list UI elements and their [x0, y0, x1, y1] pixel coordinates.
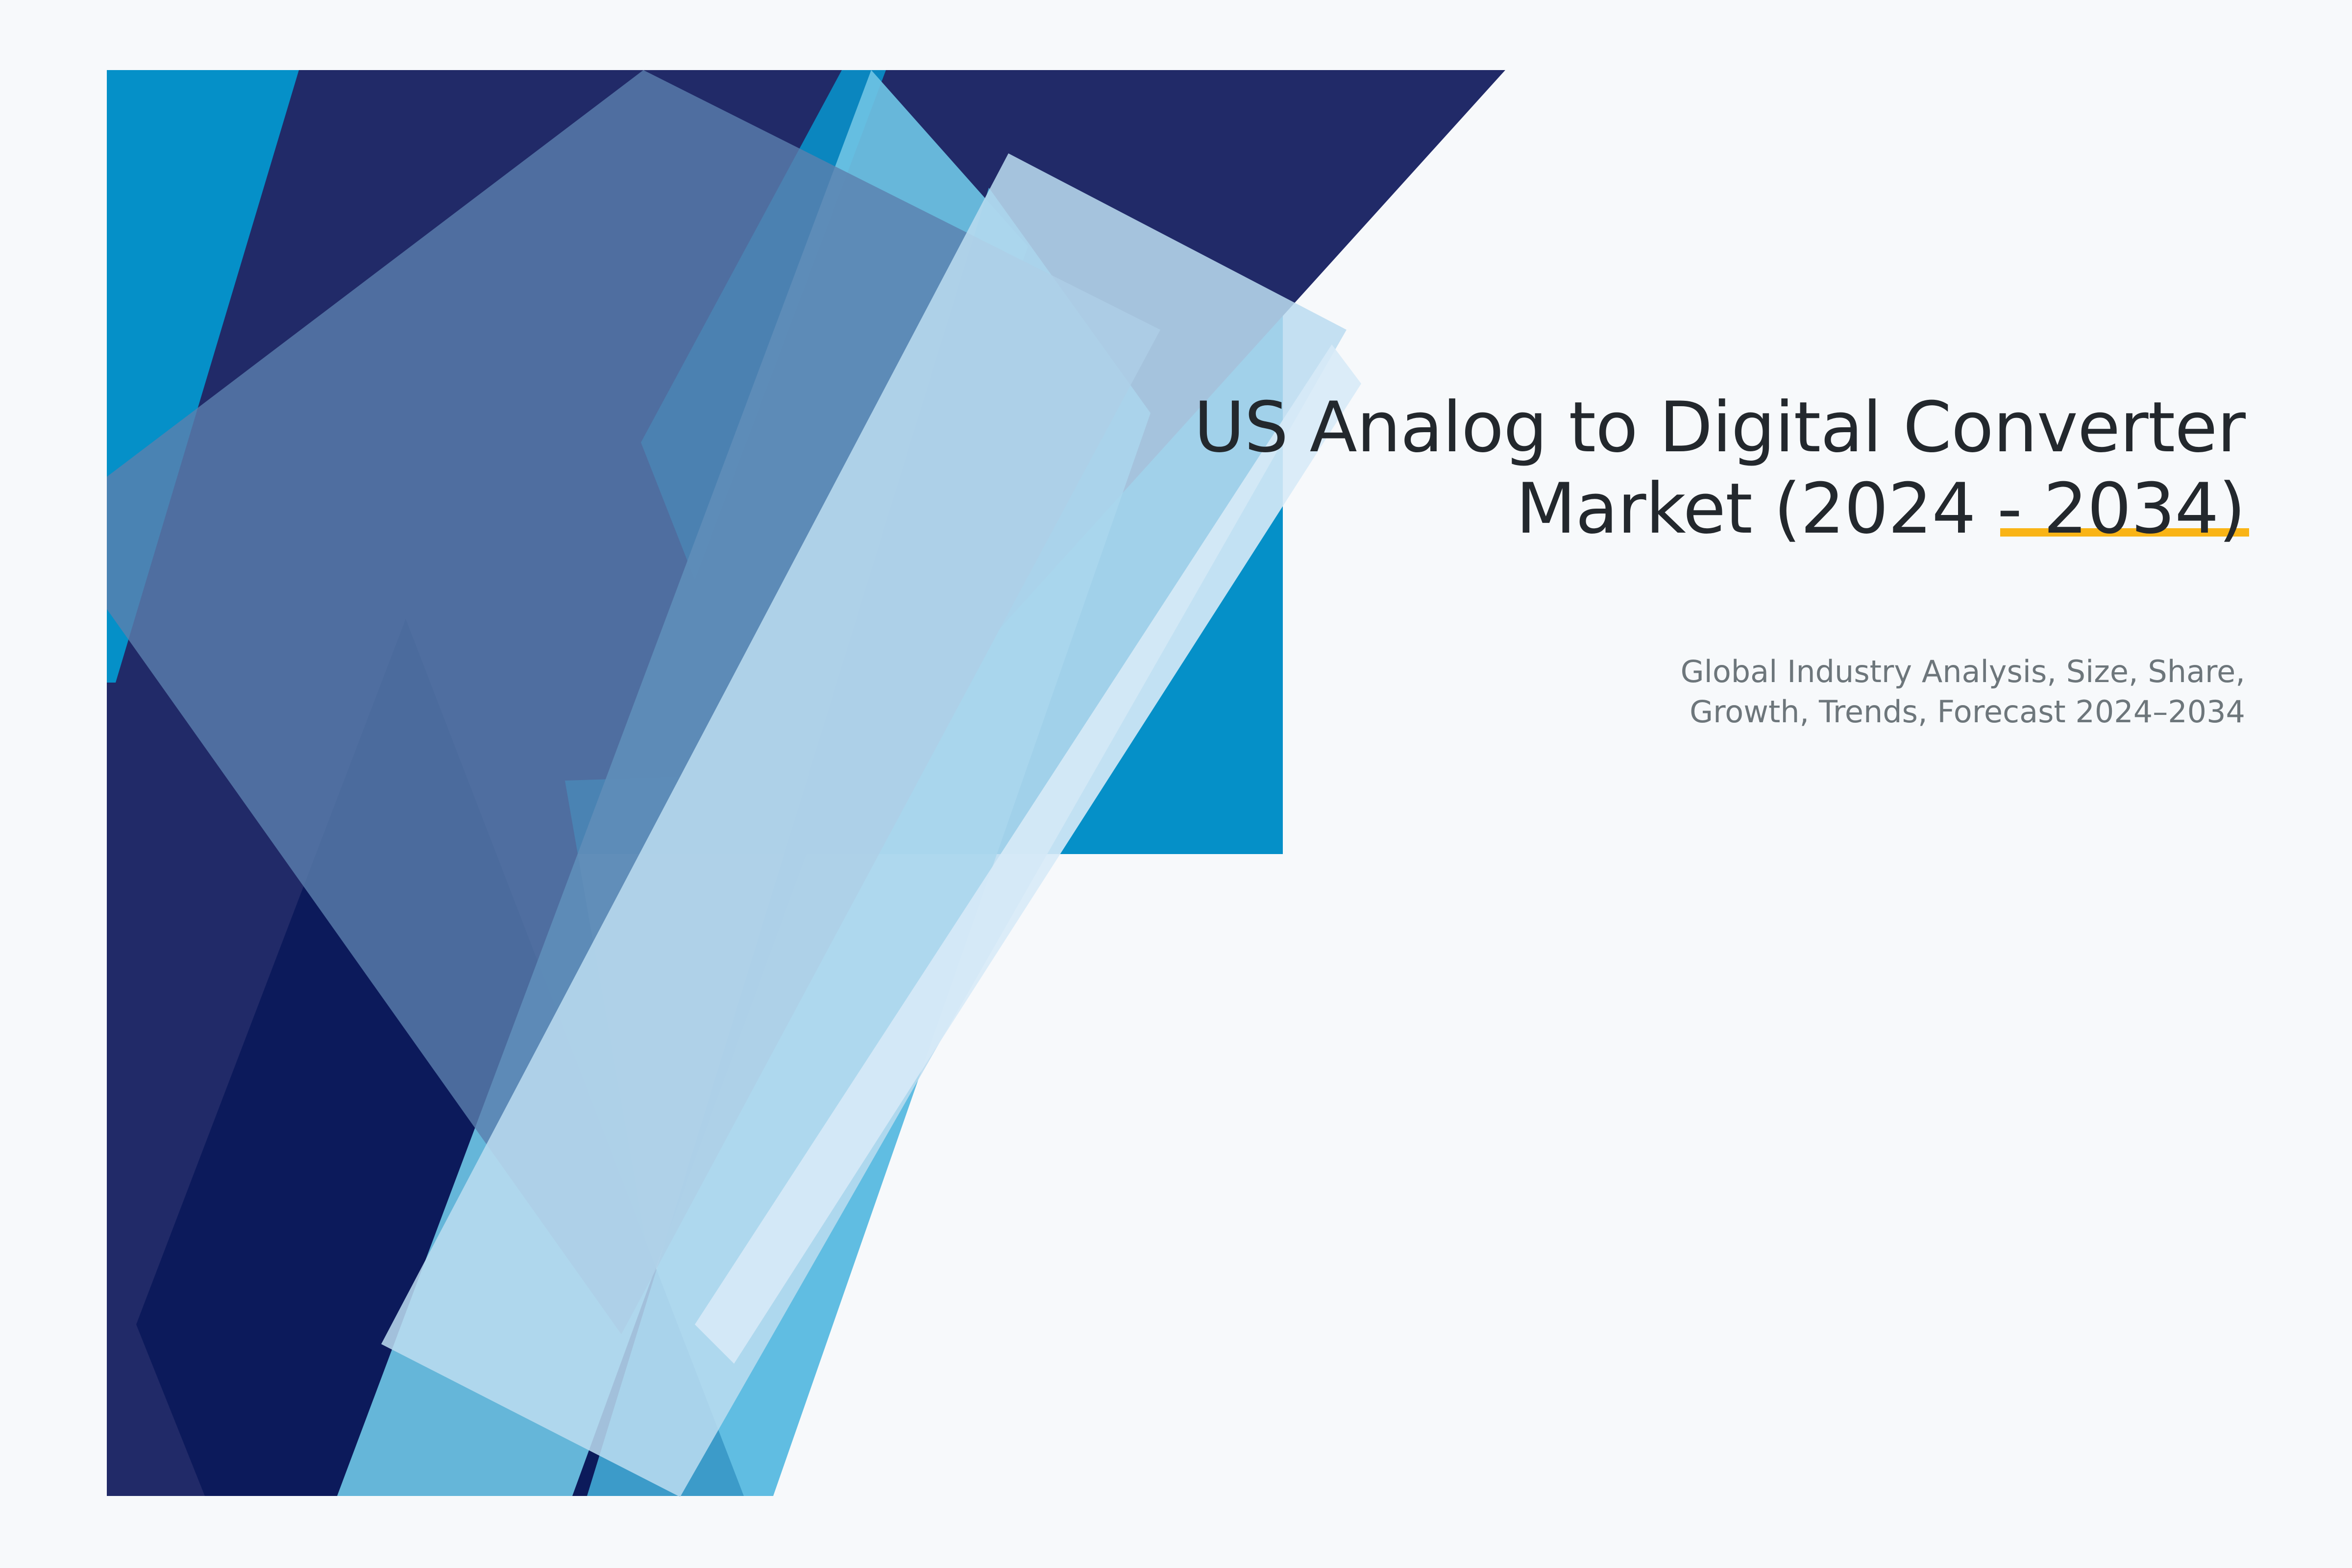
- abstract-geometric-cover-graphic: [107, 70, 1506, 1497]
- title-block: US Analog to Digital Converter Market (2…: [971, 387, 2245, 550]
- page-title-line-1: US Analog to Digital Converter: [1194, 387, 2245, 468]
- page-title-line-2: Market (2024 - 2034): [1516, 468, 2245, 549]
- cover-art-svg: [107, 70, 1506, 1497]
- page-subtitle-line-1: Global Industry Analysis, Size, Share,: [1681, 654, 2245, 689]
- page-subtitle: Global Industry Analysis, Size, Share, G…: [1461, 652, 2245, 732]
- page-subtitle-line-2: Growth, Trends, Forecast 2024–2034: [1690, 694, 2245, 730]
- cover-page: US Analog to Digital Converter Market (2…: [0, 0, 2352, 1568]
- page-title: US Analog to Digital Converter Market (2…: [971, 387, 2245, 550]
